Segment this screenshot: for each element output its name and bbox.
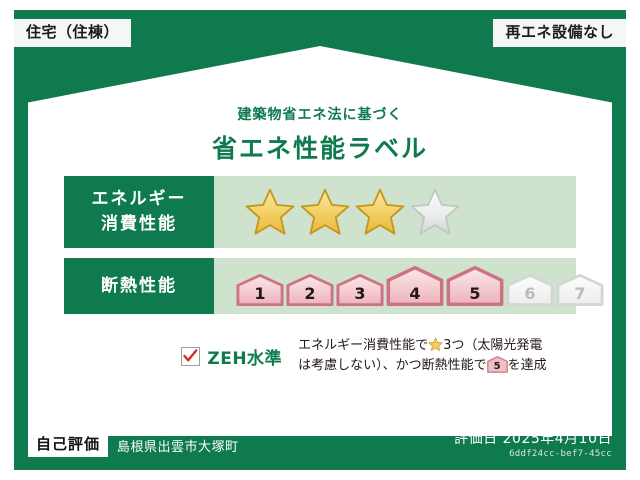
house-grade-number: 5 [446,286,504,302]
row-insulation-label: 断熱性能 [64,258,214,314]
label-title-block: 建築物省エネ法に基づく 省エネ性能ラベル [28,104,612,165]
house-grade-number: 1 [236,286,284,302]
house-grade-icon: 1 [236,274,284,306]
zeh-desc-part3: を達成 [508,358,547,373]
page-title: 省エネ性能ラベル [28,129,612,165]
house-grade-icon: 5 [487,356,508,373]
row-energy-label-line1: エネルギー [92,187,187,212]
row-insulation-value: 1234567 [214,258,604,314]
star-filled-icon [354,187,406,237]
label-footer: 自己評価 島根県出雲市大塚町 評価日 2025年4月10日 6ddf24cc-b… [28,428,612,462]
evaluation-date: 評価日 2025年4月10日 [454,431,612,448]
insulation-grade-scale: 1234567 [236,266,604,306]
label-house-panel: 建築物省エネ法に基づく 省エネ性能ラベル エネルギー 消費性能 断熱性能 [28,46,612,436]
house-grade-icon: 3 [336,274,384,306]
row-energy-value [214,176,576,248]
checkmark-icon [183,349,198,364]
star-filled-icon [244,187,296,237]
house-grade-number: 2 [286,286,334,302]
zeh-desc-part1: エネルギー消費性能で [298,338,428,353]
star-rating [244,187,461,237]
house-grade-number: 3 [336,286,384,302]
zeh-label: ZEH水準 [207,344,282,369]
row-insulation-performance: 断熱性能 1234567 [64,258,576,314]
star-filled-icon [428,337,443,352]
zeh-description: エネルギー消費性能で3つ（太陽光発電 は考慮しない）、かつ断熱性能で5を達成 [298,336,547,376]
title-subtitle: 建築物省エネ法に基づく [28,104,612,124]
zeh-checkbox-group: ZEH水準 [93,344,282,369]
house-grade-icon: 6 [506,274,554,306]
row-energy-performance: エネルギー 消費性能 [64,176,576,248]
property-address: 島根県出雲市大塚町 [117,436,239,455]
self-evaluation-badge: 自己評価 [28,433,108,457]
footer-right-group: 評価日 2025年4月10日 6ddf24cc-bef7-45cc [454,431,612,459]
row-energy-label-line2: 消費性能 [101,212,177,237]
star-empty-icon [409,187,461,237]
house-grade-number: 7 [556,286,604,302]
zeh-checkbox [181,347,200,366]
badge-renewable-energy: 再エネ設備なし [493,19,626,47]
energy-performance-label: 住宅（住棟） 再エネ設備なし 建築物省エネ法に基づく 省エネ性能ラベル エネルギ… [0,0,640,480]
badge-building-type: 住宅（住棟） [14,19,131,47]
zeh-desc-part2: は考慮しない）、かつ断熱性能で [298,358,487,373]
house-grade-number: 4 [386,286,444,302]
zeh-section: ZEH水準 エネルギー消費性能で3つ（太陽光発電 は考慮しない）、かつ断熱性能で… [64,336,576,376]
house-grade-icon: 5 [446,266,504,306]
house-grade-icon: 2 [286,274,334,306]
house-grade-number: 5 [487,362,508,372]
star-filled-icon [299,187,351,237]
metric-rows: エネルギー 消費性能 断熱性能 1234567 [64,176,576,324]
document-id: 6ddf24cc-bef7-45cc [454,449,612,459]
house-grade-number: 6 [506,286,554,302]
house-grade-icon: 7 [556,274,604,306]
footer-left-group: 自己評価 島根県出雲市大塚町 [28,433,239,457]
zeh-desc-stars: 3つ（太陽光発電 [443,338,542,353]
house-grade-icon: 4 [386,266,444,306]
row-energy-label: エネルギー 消費性能 [64,176,214,248]
